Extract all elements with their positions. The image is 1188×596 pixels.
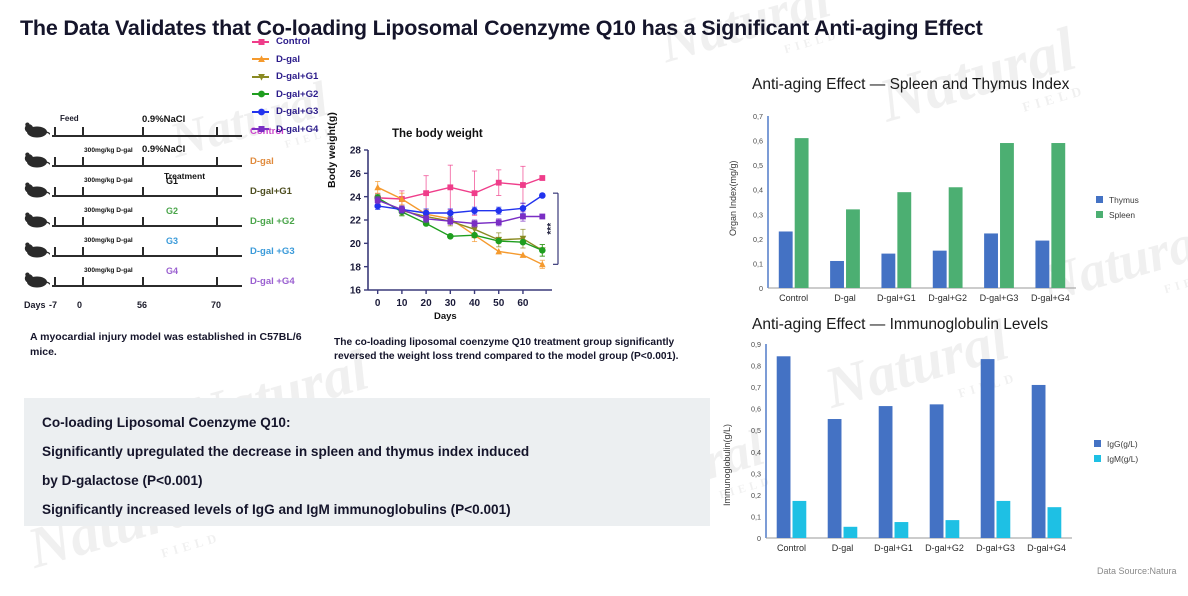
svg-text:0,4: 0,4 [753, 186, 763, 195]
timeline-tick [216, 127, 218, 136]
data-source-label: Data Source:Natura [1097, 566, 1177, 576]
conclusion-box: Co-loading Liposomal Coenzyme Q10:Signif… [24, 398, 710, 526]
timeline-axis [52, 285, 242, 287]
svg-text:18: 18 [350, 262, 362, 273]
timeline-axis [52, 225, 242, 227]
timeline-tick [216, 247, 218, 256]
legend-marker [257, 55, 266, 64]
mouse-icon [24, 120, 50, 140]
svg-text:0,6: 0,6 [753, 137, 763, 146]
legend-item: D-gal+G4 [252, 121, 362, 139]
days-axis: Days-705670 [24, 300, 316, 314]
legend-item: D-gal+G1 [252, 68, 362, 86]
timeline-axis [52, 195, 242, 197]
legend-marker [257, 90, 266, 99]
dose-label: 300mg/kg D-gal [84, 207, 133, 214]
timeline-tick [54, 187, 56, 196]
svg-text:0,1: 0,1 [751, 512, 761, 521]
timeline-tick [54, 157, 56, 166]
mouse-icon [24, 150, 50, 170]
timeline-tick [82, 277, 84, 286]
conclusion-line: Significantly increased levels of IgG an… [42, 502, 511, 517]
timeline-tick [142, 127, 144, 136]
svg-text:Control: Control [777, 543, 806, 553]
svg-text:16: 16 [350, 286, 362, 297]
group-label: D-gal [250, 156, 274, 167]
svg-text:D-gal+G3: D-gal+G3 [980, 293, 1019, 303]
legend-marker [257, 72, 266, 81]
legend-swatch [252, 76, 269, 78]
day-tick-label: 70 [211, 300, 221, 310]
mouse-icon [24, 240, 50, 260]
timeline-axis [52, 165, 242, 167]
legend-swatch [252, 41, 269, 43]
svg-text:0,5: 0,5 [753, 161, 763, 170]
svg-text:D-gal+G1: D-gal+G1 [874, 543, 913, 553]
svg-text:D-gal+G2: D-gal+G2 [928, 293, 967, 303]
days-axis-title: Days [24, 300, 46, 310]
timeline-tick [54, 247, 56, 256]
legend-swatch [252, 93, 269, 95]
body-weight-legend: ControlD-galD-gal+G1D-gal+G2D-gal+G3D-ga… [252, 33, 362, 138]
body-weight-plot: 161820222426280102030405060*** [330, 128, 580, 323]
timeline-axis [52, 255, 242, 257]
timeline-tick [142, 217, 144, 226]
svg-text:0: 0 [759, 284, 763, 293]
svg-text:0,2: 0,2 [753, 235, 763, 244]
timeline-tick [216, 157, 218, 166]
timeline-tick [216, 277, 218, 286]
timeline-tick [82, 127, 84, 136]
svg-text:D-gal: D-gal [834, 293, 856, 303]
conclusion-line: Co-loading Liposomal Coenzyme Q10: [42, 415, 291, 430]
svg-text:20: 20 [350, 239, 362, 250]
bar-plot: 00,10,20,30,40,50,60,70,80,9ControlD-gal… [724, 316, 1124, 566]
svg-text:0,5: 0,5 [751, 426, 761, 435]
legend-label: D-gal+G4 [276, 124, 318, 135]
svg-text:0,7: 0,7 [753, 112, 763, 121]
svg-text:***: *** [546, 223, 557, 235]
timeline-tick [54, 127, 56, 136]
body-weight-chart: The body weight Body weight(g) Days 1618… [330, 128, 580, 323]
legend-item: D-gal [252, 51, 362, 69]
legend-swatch [252, 128, 269, 130]
page-title: The Data Validates that Co-loading Lipos… [20, 16, 983, 41]
timeline-tick [142, 247, 144, 256]
agent-label: 0.9%NaCl [142, 114, 185, 125]
legend-marker [257, 37, 266, 46]
mouse-icon [24, 210, 50, 230]
immunoglobulin-chart: Anti-aging Effect — Immunoglobulin Level… [724, 316, 1184, 566]
svg-text:0,3: 0,3 [753, 210, 763, 219]
dose-label: 300mg/kg D-gal [84, 177, 133, 184]
svg-text:28: 28 [350, 146, 362, 157]
dose-label: 300mg/kg D-gal [84, 267, 133, 274]
legend-label: D-gal+G3 [276, 106, 318, 117]
legend-item: D-gal+G2 [252, 86, 362, 104]
svg-text:0: 0 [375, 298, 381, 309]
conclusion-line: Significantly upregulated the decrease i… [42, 444, 529, 459]
mouse-icon [24, 270, 50, 290]
timeline-tick [82, 157, 84, 166]
timeline-row: 300mg/kg D-galG3D-gal +G3 [24, 238, 316, 268]
legend-label: D-gal+G2 [276, 89, 318, 100]
svg-text:26: 26 [350, 169, 362, 180]
group-label: D-gal +G4 [250, 276, 295, 287]
timeline-row: 300mg/kg D-galG4D-gal +G4 [24, 268, 316, 298]
day-tick-label: -7 [49, 300, 57, 310]
feed-label: Feed [60, 114, 79, 123]
svg-text:10: 10 [396, 298, 408, 309]
legend-item: Control [252, 33, 362, 51]
svg-text:0,2: 0,2 [751, 491, 761, 500]
legend-item: D-gal+G3 [252, 103, 362, 121]
timeline-tick [82, 247, 84, 256]
group-label: D-gal +G2 [250, 216, 295, 227]
timeline-tick [82, 187, 84, 196]
legend-label: D-gal [276, 54, 300, 65]
mouse-icon [24, 180, 50, 200]
body-weight-caption: The co-loading liposomal coenzyme Q10 tr… [334, 336, 706, 365]
svg-text:40: 40 [469, 298, 481, 309]
svg-text:D-gal+G2: D-gal+G2 [925, 543, 964, 553]
dose-label: 300mg/kg D-gal [84, 237, 133, 244]
legend-marker [257, 125, 266, 134]
group-label: D-gal +G3 [250, 246, 295, 257]
day-tick-label: 0 [77, 300, 82, 310]
timeline-tick [142, 187, 144, 196]
experimental-design-diagram: 300mg/kg D-galG4D-gal +G4300mg/kg D-galG… [24, 118, 316, 314]
svg-text:D-gal: D-gal [832, 543, 854, 553]
timeline-tick [54, 217, 56, 226]
timeline-tick [54, 277, 56, 286]
svg-text:0,3: 0,3 [751, 469, 761, 478]
treatment-label: Treatment [164, 171, 205, 181]
group-label: D-gal+G1 [250, 186, 292, 197]
dose-label: 300mg/kg D-gal [84, 147, 133, 154]
svg-text:60: 60 [517, 298, 529, 309]
svg-text:D-gal+G3: D-gal+G3 [976, 543, 1015, 553]
timeline-tick [216, 217, 218, 226]
legend-swatch [252, 58, 269, 60]
legend-label: Control [276, 36, 310, 47]
timeline-tick [142, 157, 144, 166]
timeline-tick [216, 187, 218, 196]
svg-text:20: 20 [421, 298, 433, 309]
svg-text:30: 30 [445, 298, 457, 309]
timeline-tick [82, 217, 84, 226]
svg-text:0,7: 0,7 [751, 383, 761, 392]
svg-text:0: 0 [757, 534, 761, 543]
svg-text:24: 24 [350, 192, 362, 203]
timeline-axis [52, 135, 242, 137]
legend-label: D-gal+G1 [276, 71, 318, 82]
timeline-row: 300mg/kg D-galG2D-gal +G2 [24, 208, 316, 238]
svg-text:0,9: 0,9 [751, 340, 761, 349]
svg-text:0,6: 0,6 [751, 405, 761, 414]
svg-text:D-gal+G4: D-gal+G4 [1027, 543, 1066, 553]
timeline-row: 300mg/kg D-galG1D-gal+G1 [24, 178, 316, 208]
day-tick-label: 56 [137, 300, 147, 310]
svg-text:50: 50 [493, 298, 505, 309]
svg-text:0,4: 0,4 [751, 448, 761, 457]
conclusion-line: by D-galactose (P<0.001) [42, 473, 203, 488]
svg-text:0,1: 0,1 [753, 259, 763, 268]
svg-text:22: 22 [350, 216, 362, 227]
svg-text:0,8: 0,8 [751, 362, 761, 371]
bar-plot: 00,10,20,30,40,50,60,7ControlD-galD-gal+… [724, 76, 1124, 314]
spleen-thymus-chart: Anti-aging Effect — Spleen and Thymus In… [724, 76, 1184, 314]
legend-swatch [252, 111, 269, 113]
svg-text:D-gal+G4: D-gal+G4 [1031, 293, 1070, 303]
svg-text:D-gal+G1: D-gal+G1 [877, 293, 916, 303]
svg-text:Control: Control [779, 293, 808, 303]
legend-marker [257, 107, 266, 116]
model-caption: A myocardial injury model was establishe… [30, 330, 310, 360]
timeline-tick [142, 277, 144, 286]
